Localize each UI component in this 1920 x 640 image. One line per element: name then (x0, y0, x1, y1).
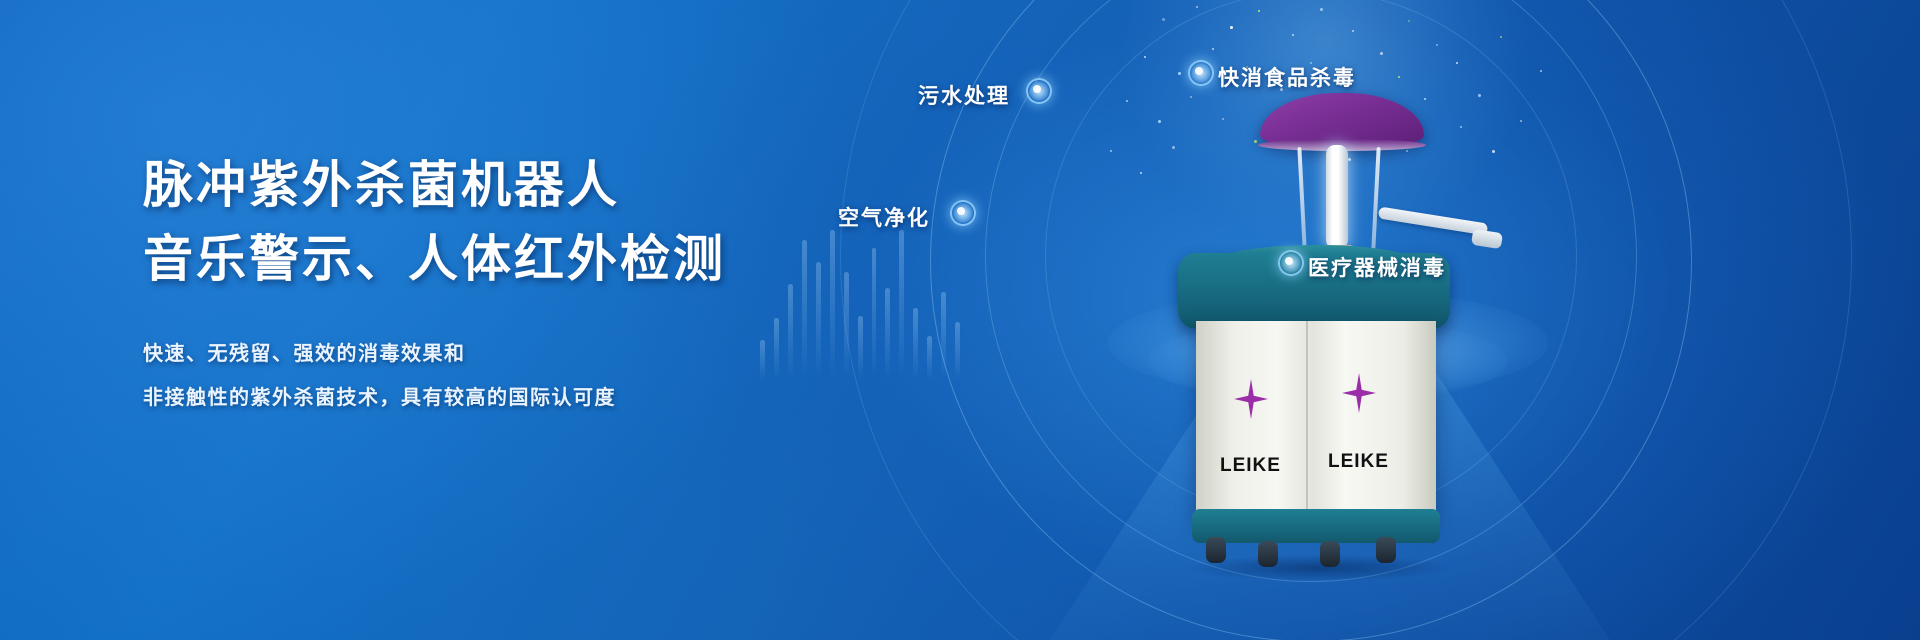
handle-grip-icon (1471, 229, 1503, 249)
sparkle-dot-icon (1352, 30, 1354, 32)
body-edge-icon (1306, 321, 1308, 521)
brand-label-left: LEIKE (1220, 455, 1281, 477)
robot-base-icon (1192, 509, 1440, 543)
sparkle-dot-icon (1380, 52, 1383, 55)
sparkle-dot-icon (1212, 48, 1214, 50)
sparkle-dot-icon (1110, 150, 1112, 152)
subtitle-line-1: 快速、无残留、强效的消毒效果和 (143, 332, 843, 376)
sparkle-dot-icon (1162, 18, 1165, 21)
node-marker-icon (1278, 250, 1304, 276)
headline-block: 脉冲紫外杀菌机器人 音乐警示、人体红外检测 快速、无残留、强效的消毒效果和 非接… (143, 148, 843, 420)
node-marker-icon (1188, 60, 1214, 86)
sparkle-dot-icon (1500, 36, 1502, 38)
uv-disinfection-robot: LEIKE LEIKE (1130, 85, 1550, 565)
caster-wheel-icon (1376, 537, 1396, 563)
sparkle-dot-icon (1320, 8, 1323, 11)
sparkle-dot-icon (1292, 34, 1294, 36)
sparkle-dot-icon (1408, 20, 1410, 22)
sparkle-dot-icon (1258, 10, 1260, 12)
robot-body (1196, 321, 1436, 521)
brand-label-right: LEIKE (1328, 451, 1389, 473)
sparkle-dot-icon (1456, 62, 1458, 64)
sparkle-dot-icon (1230, 26, 1233, 29)
headline-line-1: 脉冲紫外杀菌机器人 (143, 148, 843, 222)
feature-tag-sewage: 污水处理 (918, 80, 1010, 110)
product-banner: 脉冲紫外杀菌机器人 音乐警示、人体红外检测 快速、无残留、强效的消毒效果和 非接… (0, 0, 1920, 640)
product-scene: LEIKE LEIKE 污水处理 快消食品杀毒 空气净化 医疗器械消毒 (900, 0, 1920, 640)
lamp-strut-right-icon (1371, 147, 1380, 249)
node-marker-icon (950, 200, 976, 226)
feature-tag-air: 空气净化 (838, 202, 930, 232)
sparkle-dot-icon (1436, 44, 1438, 46)
uv-lamp-tube-icon (1326, 145, 1348, 249)
caster-wheel-icon (1258, 541, 1278, 567)
sparkle-dot-icon (1398, 76, 1400, 78)
lamp-strut-left-icon (1297, 147, 1306, 249)
feature-tag-food: 快消食品杀毒 (1218, 62, 1356, 92)
sparkle-dot-icon (1178, 72, 1181, 75)
sparkle-dot-icon (1144, 56, 1146, 58)
feature-tag-medical: 医疗器械消毒 (1308, 252, 1446, 282)
caster-wheel-icon (1206, 537, 1226, 563)
subtitle-line-2: 非接触性的紫外杀菌技术，具有较高的国际认可度 (143, 376, 843, 420)
push-handle-icon (1378, 206, 1489, 235)
caster-wheel-icon (1320, 541, 1340, 567)
sparkle-dot-icon (1126, 100, 1128, 102)
subtitle-block: 快速、无残留、强效的消毒效果和 非接触性的紫外杀菌技术，具有较高的国际认可度 (143, 332, 843, 420)
sparkle-dot-icon (1540, 70, 1542, 72)
robot-shadow-icon (1188, 555, 1450, 581)
node-marker-icon (1026, 78, 1052, 104)
sparkle-dot-icon (1196, 6, 1198, 8)
headline-line-2: 音乐警示、人体红外检测 (143, 222, 843, 296)
